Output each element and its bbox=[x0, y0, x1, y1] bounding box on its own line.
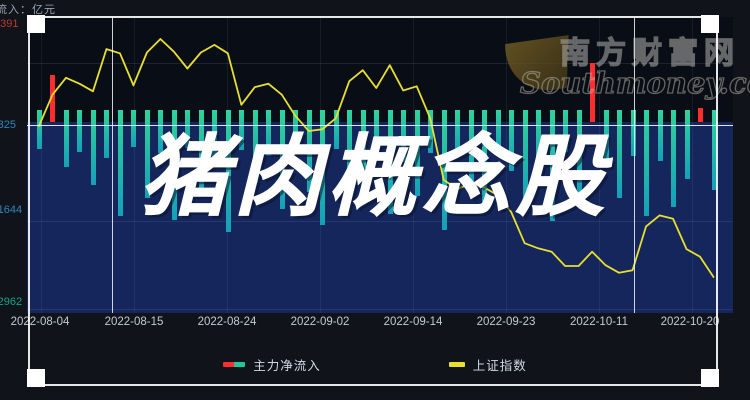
chart-legend[interactable]: 主力净流入上证指数 bbox=[0, 352, 750, 376]
bar-main-net-inflow bbox=[131, 110, 136, 147]
y-axis-tick-label: -325 bbox=[0, 119, 16, 131]
gridline-horizontal bbox=[27, 221, 733, 222]
bar-main-net-inflow bbox=[172, 110, 177, 220]
bar-main-net-inflow bbox=[455, 110, 460, 156]
x-axis-tick-label: 2022-10-20 bbox=[661, 316, 720, 328]
bar-main-net-inflow bbox=[617, 110, 622, 198]
bar-main-net-inflow bbox=[469, 110, 474, 185]
bar-main-net-inflow bbox=[685, 110, 690, 179]
y-axis-unit-caption: 流入：亿元 bbox=[0, 1, 56, 17]
gridline-horizontal bbox=[27, 309, 733, 310]
bar-main-net-inflow bbox=[347, 110, 352, 178]
bar-main-net-inflow bbox=[320, 110, 325, 225]
gridline-vertical bbox=[41, 17, 42, 313]
bar-main-net-inflow bbox=[401, 110, 406, 162]
x-axis-tick-label: 2022-08-04 bbox=[11, 316, 70, 328]
bar-main-net-inflow bbox=[523, 110, 528, 203]
bar-main-net-inflow bbox=[590, 63, 595, 122]
bar-main-net-inflow bbox=[712, 110, 717, 190]
bar-main-net-inflow bbox=[104, 110, 109, 158]
bar-main-net-inflow bbox=[266, 110, 271, 156]
bar-main-net-inflow bbox=[577, 110, 582, 194]
bar-main-net-inflow bbox=[199, 110, 204, 196]
gridline-vertical bbox=[692, 17, 693, 313]
y-axis-tick-label: 1391 bbox=[0, 18, 18, 30]
bar-main-net-inflow bbox=[37, 110, 42, 149]
legend-label: 上证指数 bbox=[473, 355, 527, 374]
bar-main-net-inflow bbox=[77, 110, 82, 152]
plot-area bbox=[27, 17, 733, 313]
x-axis-tick-label: 2022-09-23 bbox=[477, 316, 536, 328]
legend-swatch-icon bbox=[449, 362, 465, 367]
x-axis-tick-label: 2022-08-24 bbox=[198, 316, 257, 328]
legend-swatch-icon bbox=[223, 362, 245, 367]
x-axis-tick-label: 2022-09-02 bbox=[291, 316, 350, 328]
bar-main-net-inflow bbox=[374, 110, 379, 157]
x-axis: 2022-08-042022-08-152022-08-242022-09-02… bbox=[0, 316, 750, 336]
bar-main-net-inflow bbox=[604, 110, 609, 163]
bar-main-net-inflow bbox=[509, 110, 514, 171]
bar-main-net-inflow bbox=[428, 110, 433, 153]
negative-region-fill bbox=[27, 122, 733, 313]
bar-main-net-inflow bbox=[239, 110, 244, 150]
x-axis-tick-label: 2022-08-15 bbox=[105, 316, 164, 328]
bar-main-net-inflow bbox=[91, 110, 96, 185]
y-axis-tick-label: -2962 bbox=[0, 296, 22, 308]
bar-main-net-inflow bbox=[226, 110, 231, 232]
gridline-vertical bbox=[599, 17, 600, 313]
chart-panel[interactable] bbox=[27, 17, 733, 313]
x-axis-tick-label: 2022-10-11 bbox=[570, 316, 628, 328]
bar-main-net-inflow bbox=[158, 110, 163, 153]
bar-main-net-inflow bbox=[536, 110, 541, 180]
bar-main-net-inflow bbox=[563, 110, 568, 152]
gridline-vertical bbox=[134, 17, 135, 313]
bar-main-net-inflow bbox=[415, 110, 420, 196]
x-axis-tick-label: 2022-09-14 bbox=[384, 316, 443, 328]
bar-main-net-inflow bbox=[64, 110, 69, 167]
legend-item-shanghai-index[interactable]: 上证指数 bbox=[449, 355, 527, 374]
bar-main-net-inflow bbox=[253, 110, 258, 183]
legend-label: 主力净流入 bbox=[253, 355, 321, 374]
legend-item-main-net-inflow[interactable]: 主力净流入 bbox=[223, 355, 321, 374]
gridline-horizontal bbox=[27, 63, 733, 64]
bar-main-net-inflow bbox=[50, 75, 55, 122]
bar-main-net-inflow bbox=[145, 110, 150, 198]
bar-main-net-inflow bbox=[442, 110, 447, 230]
gridline-vertical bbox=[506, 17, 507, 313]
bar-main-net-inflow bbox=[293, 110, 298, 152]
bar-main-net-inflow bbox=[658, 110, 663, 161]
bar-main-net-inflow bbox=[698, 108, 703, 122]
bar-main-net-inflow bbox=[212, 110, 217, 158]
bar-main-net-inflow bbox=[185, 110, 190, 148]
bar-main-net-inflow bbox=[496, 110, 501, 150]
bar-main-net-inflow bbox=[361, 110, 366, 203]
chart-screenshot: 流入：亿元 13910-325-1644-2962 2022-08-042022… bbox=[0, 0, 750, 400]
crosshair-vertical-left bbox=[112, 17, 113, 313]
crosshair-vertical-right bbox=[634, 17, 635, 313]
bar-main-net-inflow bbox=[334, 110, 339, 149]
crosshair-horizontal bbox=[27, 125, 733, 126]
bar-main-net-inflow bbox=[307, 110, 312, 192]
y-axis-tick-label: -1644 bbox=[0, 204, 22, 216]
bar-main-net-inflow bbox=[550, 110, 555, 221]
